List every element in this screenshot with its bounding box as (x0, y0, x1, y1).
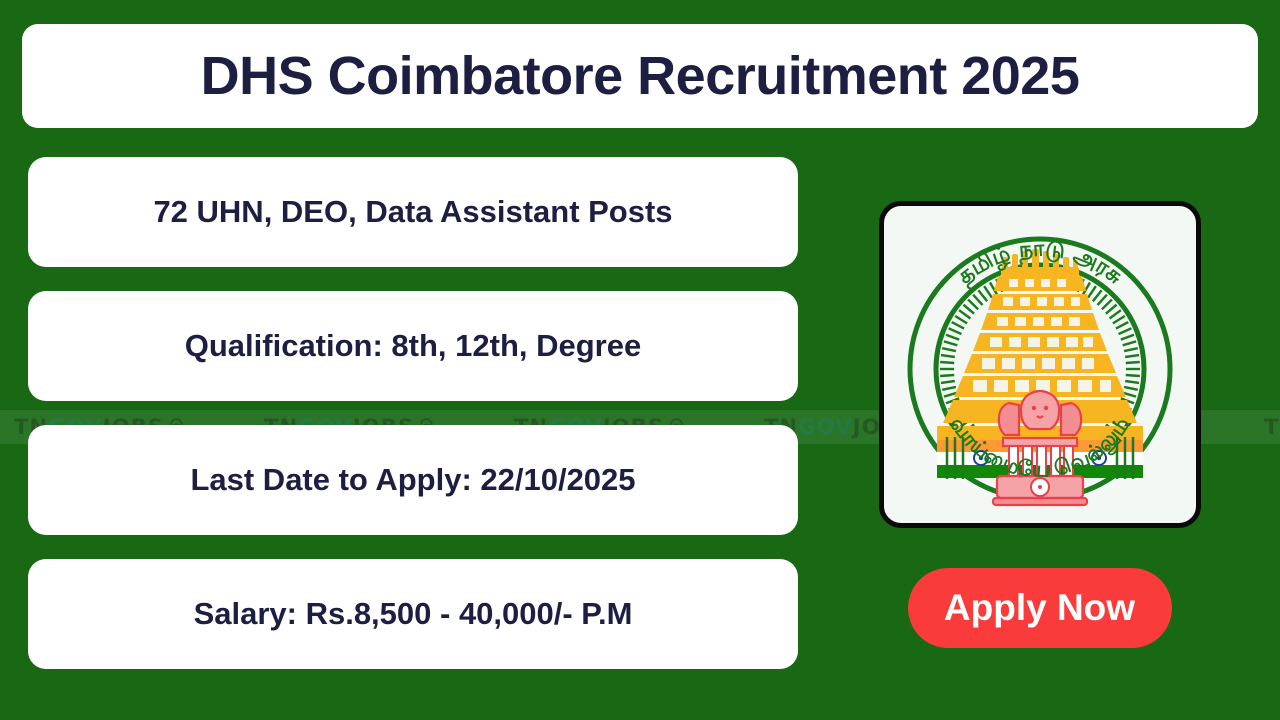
qualification-card: Qualification: 8th, 12th, Degree (28, 291, 798, 401)
vacancy-card: 72 UHN, DEO, Data Assistant Posts (28, 157, 798, 267)
right-column: தமிழ் நாடு அரசு வாய்மையே வெல்லும் Apply … (877, 201, 1202, 648)
recruitment-poster: TNGOVJOBSTNGOVJOBSTNGOVJOBSTNGOVJOBSTNGO… (0, 0, 1280, 720)
last-date-card: Last Date to Apply: 22/10/2025 (28, 425, 798, 535)
title-card: DHS Coimbatore Recruitment 2025 (22, 24, 1258, 128)
last-date-label: Last Date to Apply: 22/10/2025 (190, 462, 635, 498)
tamil-nadu-government-emblem-icon: தமிழ் நாடு அரசு வாய்மையே வெல்லும் (885, 207, 1195, 522)
salary-card: Salary: Rs.8,500 - 40,000/- P.M (28, 559, 798, 669)
salary-label: Salary: Rs.8,500 - 40,000/- P.M (194, 596, 633, 632)
apply-now-button[interactable]: Apply Now (908, 568, 1172, 648)
watermark-unit: TNGOVJOBS (1250, 410, 1280, 444)
watermark-tn: TN (1264, 415, 1280, 439)
watermark-text: TNGOVJOBS (1264, 415, 1280, 439)
page-title: DHS Coimbatore Recruitment 2025 (201, 45, 1080, 107)
watermark-gov: GOV (798, 415, 852, 439)
vacancy-label: 72 UHN, DEO, Data Assistant Posts (153, 194, 672, 230)
qualification-label: Qualification: 8th, 12th, Degree (185, 328, 641, 364)
tamil-nadu-emblem-frame: தமிழ் நாடு அரசு வாய்மையே வெல்லும் (879, 201, 1201, 528)
info-card-list: 72 UHN, DEO, Data Assistant Posts Qualif… (28, 157, 798, 669)
